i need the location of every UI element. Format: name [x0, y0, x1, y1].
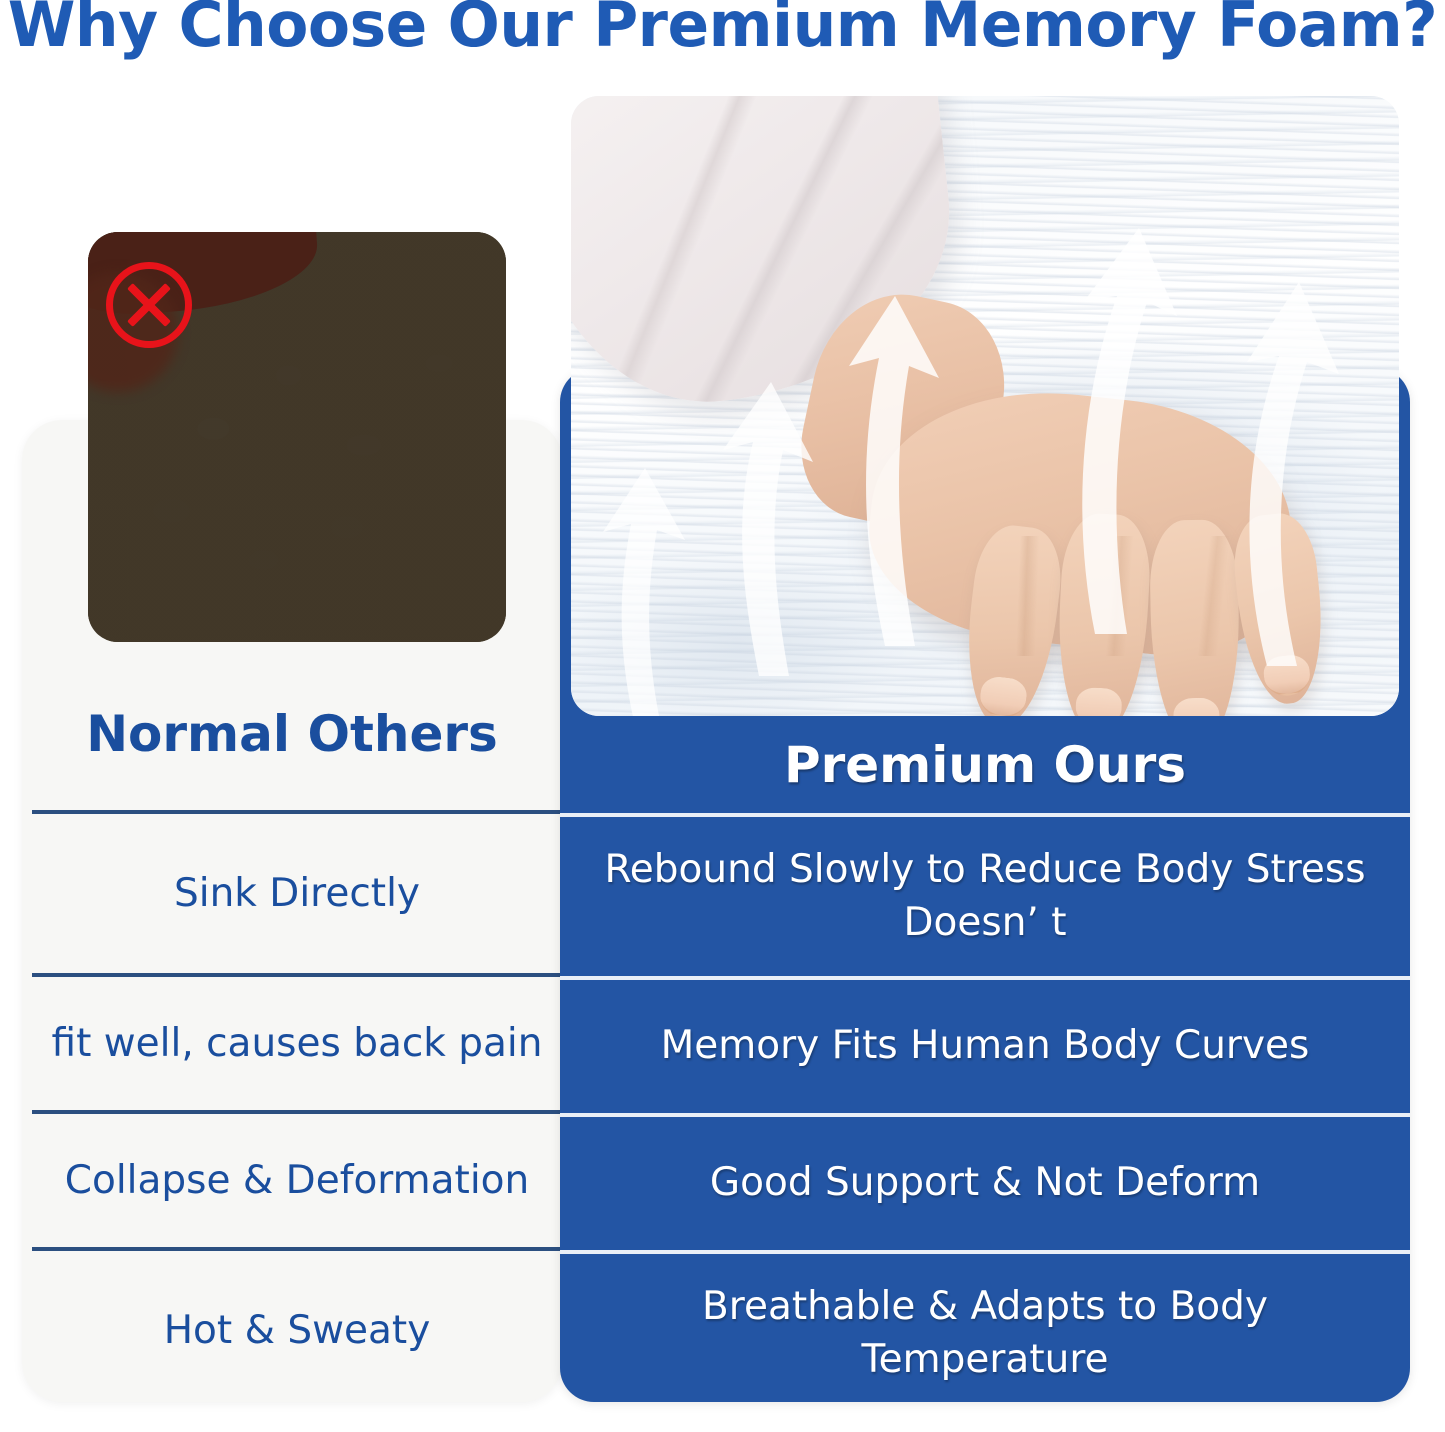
- comparison-row-left: fit well, causes back pain: [32, 973, 562, 1110]
- page-title: Why Choose Our Premium Memory Foam?: [7, 0, 1438, 61]
- upward-airflow-arrow-icon: [701, 346, 831, 676]
- upward-airflow-arrow-icon: [1211, 246, 1351, 666]
- comparison-row-right: Rebound Slowly to Reduce Body Stress Doe…: [560, 813, 1410, 976]
- circle-x-reject-icon: [106, 262, 192, 348]
- comparison-row-right: Memory Fits Human Body Curves: [560, 976, 1410, 1113]
- comparison-row-left: Collapse & Deformation: [32, 1110, 562, 1247]
- upward-airflow-arrow-icon: [1051, 204, 1191, 634]
- hand-pressing-foam-photo: [571, 96, 1399, 716]
- upward-airflow-arrow-icon: [591, 446, 701, 716]
- fingernail: [1173, 698, 1220, 716]
- upward-airflow-arrow-icon: [833, 266, 963, 646]
- normal-others-header: Normal Others: [22, 705, 562, 763]
- premium-ours-row-list: Rebound Slowly to Reduce Body Stress Doe…: [560, 813, 1410, 1402]
- comparison-row-left: Hot & Sweaty: [32, 1247, 562, 1402]
- comparison-row-right: Breathable & Adapts to Body Temperature: [560, 1250, 1410, 1402]
- fingernail: [978, 675, 1029, 716]
- normal-others-row-list: Sink Directly fit well, causes back pain…: [32, 810, 562, 1402]
- fingernail: [1075, 687, 1123, 716]
- comparison-row-right: Good Support & Not Deform: [560, 1113, 1410, 1250]
- premium-ours-header: Premium Ours: [560, 736, 1410, 794]
- comparison-row-left: Sink Directly: [32, 810, 562, 973]
